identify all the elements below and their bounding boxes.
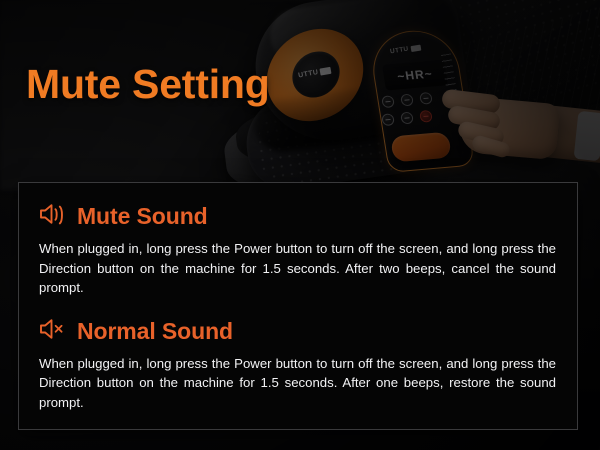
section-normal-sound: Normal Sound When plugged in, long press… <box>38 316 558 413</box>
section-label: Normal Sound <box>77 318 233 345</box>
speaker-mute-icon <box>38 316 68 347</box>
section-heading-normal-sound: Normal Sound <box>38 316 558 347</box>
speaker-wave-icon <box>38 201 68 232</box>
page-title: Mute Setting <box>26 61 270 108</box>
info-card: Mute Sound When plugged in, long press t… <box>18 182 578 430</box>
section-body: When plugged in, long press the Power bu… <box>39 239 556 298</box>
section-mute-sound: Mute Sound When plugged in, long press t… <box>38 201 558 298</box>
section-body: When plugged in, long press the Power bu… <box>39 354 556 413</box>
section-heading-mute-sound: Mute Sound <box>38 201 558 232</box>
slide-canvas: UTTU UTTU ~HR~ <box>0 0 600 450</box>
section-label: Mute Sound <box>77 203 208 230</box>
